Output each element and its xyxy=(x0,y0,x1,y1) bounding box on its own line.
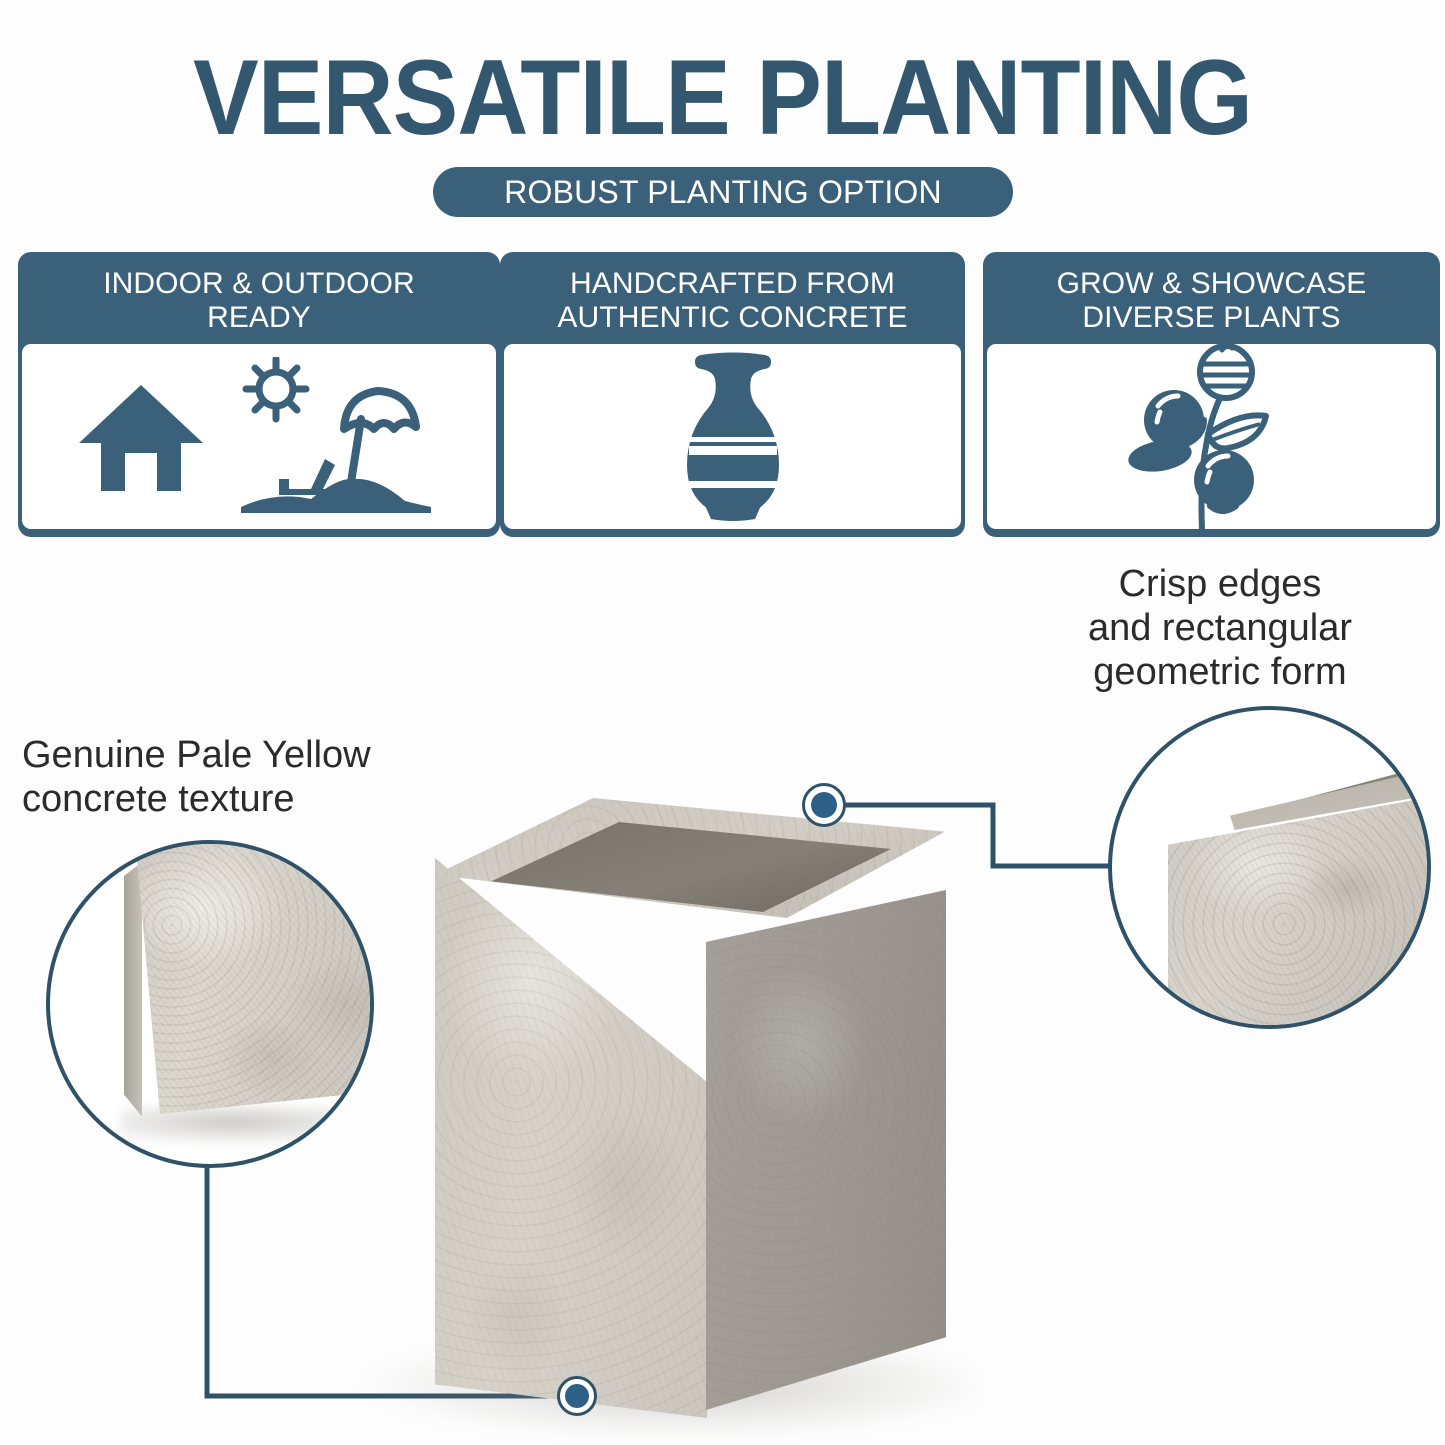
vase-icon xyxy=(663,351,803,523)
hotspot-bottom-left-corner[interactable] xyxy=(557,1376,597,1416)
feature-card-handcrafted-concrete: HANDCRAFTED FROM AUTHENTIC CONCRETE xyxy=(500,252,965,537)
berry-branch-icon xyxy=(1124,342,1299,532)
magnifier-texture-detail xyxy=(46,840,374,1168)
magnifier-inner xyxy=(1112,710,1427,1025)
hotspot-dot xyxy=(565,1384,589,1408)
magnifier-edge-detail xyxy=(1108,706,1431,1029)
sun-icon xyxy=(246,359,306,419)
slab-face xyxy=(136,840,374,1114)
slab-edge xyxy=(124,848,142,1128)
planter-front-face xyxy=(435,858,707,1418)
feature-card-indoor-outdoor: INDOOR & OUTDOOR READY xyxy=(18,252,500,537)
beach-umbrella-icon xyxy=(231,357,441,517)
feature-card-title: INDOOR & OUTDOOR READY xyxy=(22,256,496,344)
slab-shadow xyxy=(120,1106,374,1146)
product-planter-image xyxy=(355,780,995,1440)
feature-card-diverse-plants: GROW & SHOWCASE DIVERSE PLANTS xyxy=(983,252,1440,537)
callout-label-geometry: Crisp edges and rectangular geometric fo… xyxy=(1020,562,1420,694)
hotspot-top-rim-corner[interactable] xyxy=(802,783,846,827)
magnifier-inner xyxy=(50,844,370,1164)
rim-outer-face xyxy=(1168,792,1431,1029)
feature-card-icons xyxy=(504,344,961,529)
subtitle-badge: ROBUST PLANTING OPTION xyxy=(433,167,1013,217)
house-icon xyxy=(77,379,205,495)
feature-card-icons xyxy=(987,344,1436,529)
page-title: VERSATILE PLANTING xyxy=(58,44,1387,151)
feature-card-icons xyxy=(22,344,496,529)
feature-card-title: HANDCRAFTED FROM AUTHENTIC CONCRETE xyxy=(504,256,961,344)
hotspot-dot xyxy=(811,792,837,818)
feature-card-title: GROW & SHOWCASE DIVERSE PLANTS xyxy=(987,256,1436,344)
planter-side-face xyxy=(706,890,946,1410)
